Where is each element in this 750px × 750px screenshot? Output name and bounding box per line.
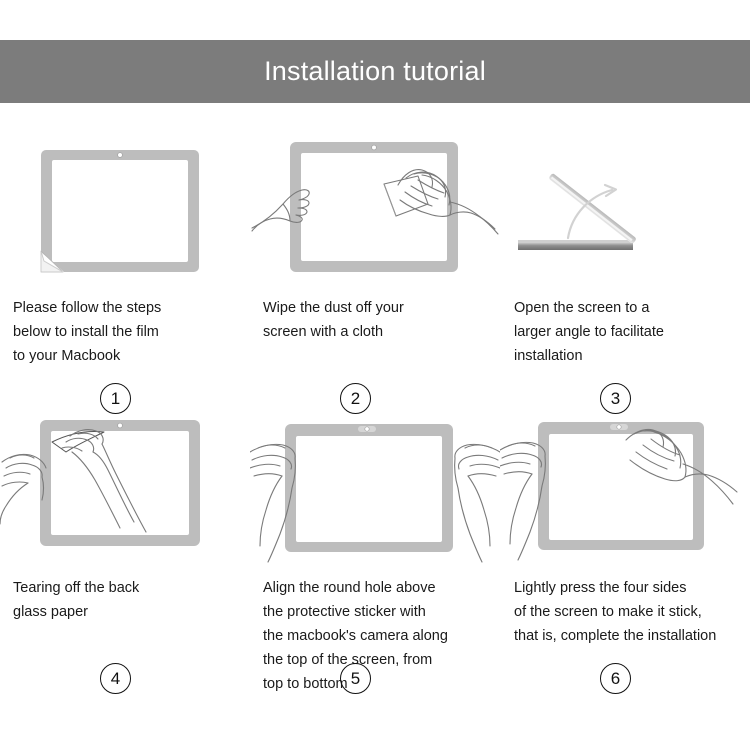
- step-card-6: Lightly press the four sides of the scre…: [500, 410, 750, 710]
- step-2-illustration: [250, 130, 500, 285]
- step-card-3: Open the screen to a larger angle to fac…: [500, 130, 750, 430]
- page-title: Installation tutorial: [264, 56, 486, 87]
- step-card-5: Align the round hole above the protectiv…: [250, 410, 500, 710]
- installation-tutorial-page: Installation tutorial: [0, 0, 750, 750]
- step-1-caption: Please follow the steps below to install…: [13, 296, 245, 368]
- step-card-2: Wipe the dust off your screen with a clo…: [250, 130, 500, 430]
- steps-grid: Please follow the steps below to install…: [0, 110, 750, 750]
- step-card-4: Tearing off the back glass paper 4: [0, 410, 250, 710]
- step-row-bottom: Tearing off the back glass paper 4: [0, 410, 750, 710]
- step-number-4: 4: [100, 663, 131, 694]
- step-card-1: Please follow the steps below to install…: [0, 130, 250, 430]
- step-3-caption: Open the screen to a larger angle to fac…: [514, 296, 750, 368]
- step-5-illustration: [250, 410, 500, 565]
- step-6-caption: Lightly press the four sides of the scre…: [514, 576, 750, 648]
- step-6-illustration: [500, 410, 750, 565]
- step-4-illustration: [0, 410, 250, 565]
- step-row-top: Please follow the steps below to install…: [0, 130, 750, 430]
- header-banner: Installation tutorial: [0, 40, 750, 103]
- step-3-illustration: [500, 130, 750, 285]
- step-4-caption: Tearing off the back glass paper: [13, 576, 245, 624]
- step-number-6: 6: [600, 663, 631, 694]
- step-5-caption: Align the round hole above the protectiv…: [263, 576, 495, 696]
- step-1-illustration: [0, 130, 250, 285]
- step-2-caption: Wipe the dust off your screen with a clo…: [263, 296, 495, 344]
- step-number-5: 5: [340, 663, 371, 694]
